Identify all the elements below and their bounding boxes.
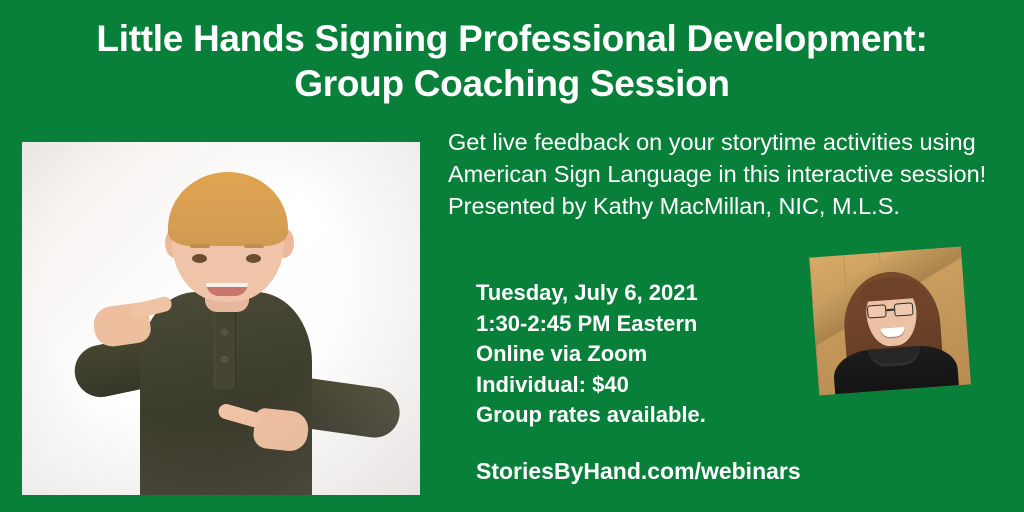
- event-location: Online via Zoom: [476, 339, 706, 370]
- event-price: Individual: $40: [476, 370, 706, 401]
- title-line-2: Group Coaching Session: [0, 61, 1024, 106]
- description-line-3: Presented by Kathy MacMillan, NIC, M.L.S…: [448, 190, 1004, 222]
- title-line-1: Little Hands Signing Professional Develo…: [0, 16, 1024, 61]
- registration-url[interactable]: StoriesByHand.com/webinars: [476, 458, 801, 485]
- glasses-lens-left: [867, 304, 887, 318]
- presenter-headshot-photo: [809, 247, 971, 396]
- page-title: Little Hands Signing Professional Develo…: [0, 16, 1024, 106]
- child-signing-photo: [22, 142, 420, 495]
- event-time: 1:30-2:45 PM Eastern: [476, 309, 706, 340]
- description-line-1: Get live feedback on your storytime acti…: [448, 126, 1004, 158]
- glasses-bridge: [886, 309, 894, 311]
- webinar-promo-poster: Little Hands Signing Professional Develo…: [0, 0, 1024, 512]
- description-block: Get live feedback on your storytime acti…: [448, 126, 1004, 222]
- event-date: Tuesday, July 6, 2021: [476, 278, 706, 309]
- description-line-2: American Sign Language in this interacti…: [448, 158, 1004, 190]
- photo-vignette: [22, 142, 420, 495]
- event-details-block: Tuesday, July 6, 2021 1:30-2:45 PM Easte…: [476, 278, 706, 431]
- event-group-rates: Group rates available.: [476, 400, 706, 431]
- glasses-lens-right: [894, 302, 914, 316]
